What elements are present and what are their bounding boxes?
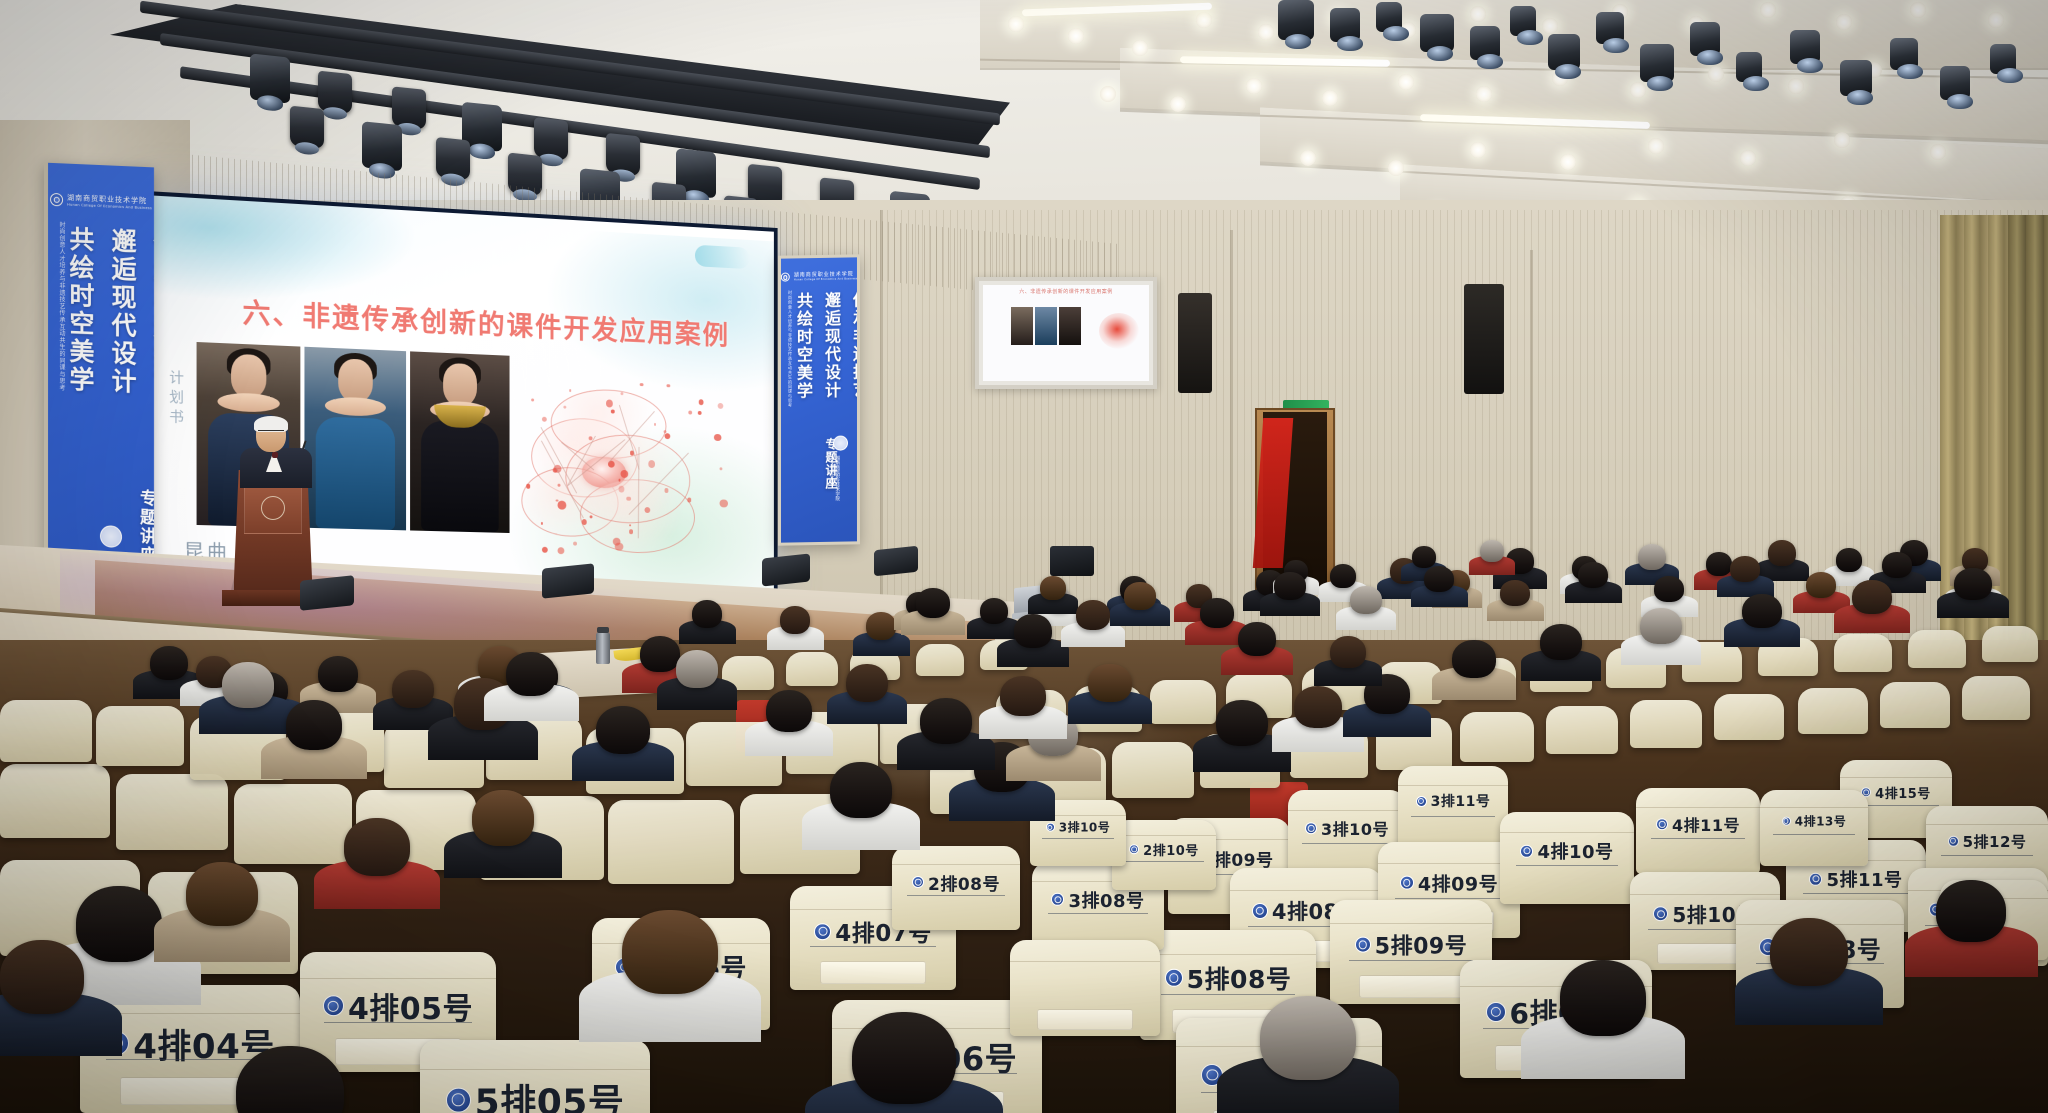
- flower-dot: [664, 433, 670, 439]
- audience-person-head: [1852, 580, 1892, 614]
- flower-dot: [573, 542, 577, 546]
- audience-person-head: [1200, 598, 1234, 628]
- audience-seat[interactable]: [1460, 712, 1534, 762]
- seat-number-label: 4排09号: [1378, 869, 1520, 896]
- audience-person-head: [1412, 546, 1436, 568]
- seat-seam: [420, 1069, 650, 1070]
- audience-person-head: [506, 652, 556, 696]
- audience-person-head: [0, 940, 84, 1014]
- moving-head-light: [250, 53, 290, 103]
- seat-label-underline: [1042, 838, 1115, 839]
- stage-spotlight: [1690, 22, 1720, 56]
- audience-person-head: [1638, 544, 1666, 570]
- flower-dot: [627, 496, 631, 500]
- seat-label-underline: [1411, 816, 1495, 817]
- audience-person-head: [622, 910, 718, 994]
- seat-number-label: 4排10号: [1500, 838, 1634, 864]
- seat-logo-badge-icon: [1948, 835, 1959, 846]
- seat-number-label: 3排10号: [1288, 816, 1406, 840]
- seat-number-label: 2排10号: [1112, 840, 1216, 859]
- audience-person-head: [1730, 556, 1760, 582]
- audience-person-head: [1260, 996, 1356, 1080]
- flower-dot: [718, 403, 724, 409]
- audience-person-head: [150, 646, 188, 680]
- seat-number-text: 3排10号: [1059, 819, 1111, 836]
- ceiling-downlight: [1008, 16, 1024, 32]
- audience-person-head: [1076, 600, 1110, 630]
- ceiling-downlight: [1476, 86, 1492, 102]
- seat-seam: [892, 864, 1020, 865]
- stage-spotlight: [1596, 12, 1624, 44]
- seat-seam: [300, 978, 496, 979]
- wall-display-title: 六、非遗传承创新的课件开发应用案例: [983, 288, 1149, 295]
- audience-person-head: [1088, 664, 1132, 702]
- seat-logo-badge-icon: [1520, 845, 1533, 858]
- seat-number-text: 3排08号: [1068, 887, 1144, 913]
- ceiling-downlight: [1930, 144, 1946, 160]
- flower-dot: [581, 519, 586, 525]
- audience-person-head: [1836, 548, 1862, 572]
- seat-seam: [1500, 832, 1634, 833]
- wall-display-photo: [1035, 307, 1057, 345]
- flower-dot: [541, 416, 546, 421]
- seat-number-text: 5排09号: [1375, 929, 1467, 961]
- seat-number-text: 4排10号: [1537, 838, 1613, 864]
- banner-fine-print: 时尚创意人才培养与非遗技艺传承互动共生的同课与思考: [57, 221, 66, 521]
- seat-logo-badge-icon: [1355, 937, 1371, 953]
- stage-spotlight: [1890, 38, 1918, 70]
- stage-side-monitor: [1050, 546, 1094, 576]
- banner-university-name: 湖南商贸职业技术学院 Hunan College Of Economics An…: [67, 194, 152, 211]
- banner-foot-seal-icon: [100, 525, 122, 548]
- seat-number-text: 4排13号: [1795, 812, 1847, 829]
- audience-person-head: [1330, 564, 1356, 588]
- flower-dot: [687, 498, 691, 503]
- flower-dot: [688, 411, 692, 415]
- seat-logo-badge-icon: [1782, 816, 1791, 825]
- banner-line-1: 传承非遗技艺: [847, 291, 860, 431]
- seat-logo-badge-icon: [1046, 823, 1055, 832]
- seat-number-label: 5排11号: [1786, 866, 1926, 892]
- audience-person-head: [780, 606, 810, 634]
- seat-logo-badge-icon: [323, 995, 344, 1016]
- seat-number-label: 3排10号: [1030, 819, 1126, 836]
- photo-head: [443, 363, 477, 406]
- audience-person-head: [640, 636, 680, 672]
- audience-person-head: [392, 670, 434, 708]
- audience-person-head: [1000, 676, 1046, 716]
- flower-dot: [526, 484, 531, 489]
- seat-seam: [1840, 777, 1952, 778]
- stage-spotlight: [1420, 14, 1454, 52]
- audience-person-head: [1500, 580, 1530, 606]
- presenter: [240, 418, 312, 482]
- audience-seat[interactable]: [234, 784, 352, 864]
- audience-seat[interactable]: [1010, 940, 1160, 1036]
- wall-speaker: [1178, 293, 1212, 393]
- flower-dot: [699, 399, 704, 405]
- seat-logo-badge-icon: [1656, 818, 1668, 830]
- ceiling-downlight: [1322, 90, 1338, 106]
- audience-seat[interactable]: [786, 652, 838, 686]
- stage-spotlight: [1990, 44, 2016, 74]
- seat-seam: [1010, 961, 1160, 962]
- audience-person-head: [596, 706, 650, 754]
- flower-dot: [697, 411, 701, 416]
- ceiling-downlight: [1542, 18, 1558, 34]
- audience-seat[interactable]: [1112, 742, 1194, 798]
- audience-person-head: [344, 818, 410, 876]
- audience-person-head: [1014, 614, 1052, 648]
- par-can-light: [436, 137, 470, 181]
- seat-label-underline: [1302, 843, 1392, 844]
- ceiling-downlight: [1246, 78, 1262, 94]
- podium-seal-icon: [261, 496, 285, 520]
- audience-person-head: [1560, 960, 1646, 1036]
- audience-person-head: [1216, 700, 1268, 746]
- ceiling-downlight: [1560, 154, 1576, 170]
- flower-dot: [649, 460, 656, 467]
- banner-line-1: 传承非遗技艺: [146, 229, 154, 481]
- seat-label-underline: [324, 1022, 473, 1023]
- seat-logo-badge-icon: [1416, 796, 1427, 807]
- stage-spotlight: [1330, 8, 1360, 42]
- auditorium-photo: 六、非遗传承创新的课件开发应用案例: [0, 0, 2048, 1113]
- flower-dot: [618, 486, 624, 492]
- ceiling-downlight: [1068, 28, 1084, 44]
- par-can-light: [290, 106, 324, 150]
- seat-seam: [1398, 785, 1508, 786]
- seat-label-underline: [1349, 960, 1472, 961]
- audience-person-head: [1238, 622, 1276, 656]
- audience-person-head: [1330, 636, 1366, 668]
- banner-university-name: 湖南商贸职业技术学院 Hunan College Of Economics An…: [794, 271, 857, 282]
- seat-label-underline: [1395, 898, 1503, 899]
- seat-number-text: 4排09号: [1418, 869, 1498, 896]
- moving-head-light: [362, 121, 402, 171]
- seat-number-text: 5排08号: [1187, 960, 1292, 996]
- audience-person-head: [1954, 568, 1992, 600]
- presenter-bowtie: [272, 452, 278, 458]
- audience-person-head: [692, 600, 722, 628]
- audience-seat[interactable]: [0, 700, 92, 762]
- audience-seat[interactable]: [1982, 626, 2038, 662]
- slide-photo: [410, 351, 509, 533]
- audience-seat[interactable]: [0, 764, 110, 838]
- audience-seat[interactable]: [1546, 706, 1618, 754]
- seat-seam: [1760, 807, 1868, 808]
- flower-dot: [720, 499, 728, 508]
- embroidery-flower-illustration: [521, 376, 732, 570]
- seat-number-label: 4排13号: [1760, 812, 1868, 829]
- seat-number-label: 5排08号: [1140, 960, 1316, 996]
- flower-dot: [714, 434, 721, 441]
- flower-dot: [557, 547, 564, 554]
- seat-logo-badge-icon: [1305, 822, 1317, 834]
- seat-number-text: 3排10号: [1321, 816, 1389, 840]
- audience-person-head: [1742, 594, 1782, 628]
- audience-person-head: [1350, 586, 1382, 614]
- ceiling-downlight: [1648, 138, 1664, 154]
- flower-dot: [667, 384, 670, 387]
- audience-person-head: [676, 650, 718, 688]
- seat-label-underline: [1941, 855, 2034, 856]
- seat-seam: [1636, 807, 1760, 808]
- seat-pocket: [820, 961, 926, 984]
- audience-seat[interactable]: 3排11号: [1398, 766, 1508, 852]
- ceiling-downlight: [1300, 150, 1316, 166]
- flower-dot: [640, 383, 644, 387]
- ceiling-downlight: [1470, 142, 1486, 158]
- university-seal-icon: [781, 273, 790, 282]
- seat-logo-badge-icon: [446, 1087, 471, 1112]
- slide-photo: [304, 347, 406, 531]
- seat-label-underline: [907, 895, 1004, 896]
- seat-logo-badge-icon: [814, 923, 831, 940]
- glasses-icon: [258, 430, 284, 436]
- stage-spotlight: [1736, 52, 1762, 82]
- flower-dot: [619, 479, 621, 481]
- photo-head: [338, 358, 373, 402]
- seat-number-text: 5排11号: [1826, 866, 1902, 892]
- audience-seat[interactable]: [916, 644, 964, 676]
- audience-person-head: [76, 886, 162, 962]
- banner-line-2: 邂逅现代设计: [104, 227, 140, 479]
- flower-dot: [558, 500, 567, 509]
- seat-logo-badge-icon: [1129, 844, 1139, 854]
- seat-number-label: 4排11号: [1636, 812, 1760, 836]
- audience-person-head: [1294, 686, 1342, 728]
- photo-shoulders: [325, 396, 386, 417]
- audience-person-head: [1452, 640, 1496, 678]
- audience-person-head: [1578, 562, 1608, 588]
- seat-number-label: 3排08号: [1032, 887, 1164, 913]
- seat-seam: [1330, 923, 1492, 924]
- seat-label-underline: [1124, 861, 1203, 862]
- flower-dot: [664, 488, 668, 492]
- wall-seam: [1230, 230, 1233, 650]
- audience-person-head: [1706, 552, 1732, 576]
- audience-seat[interactable]: 5排05号: [420, 1040, 650, 1113]
- seat-logo-badge-icon: [1051, 893, 1064, 906]
- audience-person-head: [1936, 880, 2006, 942]
- par-can-light: [534, 117, 568, 161]
- seat-label-underline: [1803, 893, 1909, 894]
- audience-seat[interactable]: 4排13号: [1760, 790, 1868, 866]
- audience-seat[interactable]: [1714, 694, 1784, 740]
- audience-seat[interactable]: [1908, 630, 1966, 668]
- audience-person-head: [920, 698, 972, 744]
- banner-line-2: 邂逅现代设计: [819, 292, 843, 432]
- wall-display-photo: [1011, 307, 1033, 345]
- audience-seat[interactable]: [1962, 676, 2030, 720]
- audience-seat[interactable]: 4排11号: [1636, 788, 1760, 874]
- slide-side-text: 计划书: [165, 369, 186, 429]
- ceiling-downlight: [1100, 86, 1116, 102]
- flower-dot: [542, 547, 548, 553]
- audience-person-head: [1480, 540, 1504, 562]
- stage-spotlight: [1278, 0, 1314, 40]
- audience-seat[interactable]: [116, 774, 228, 850]
- flower-dot: [719, 467, 722, 470]
- photo-head: [231, 354, 266, 398]
- seat-number-label: 5排12号: [1926, 830, 2048, 851]
- university-seal-icon: [50, 193, 63, 207]
- audience-seat[interactable]: [1834, 634, 1892, 672]
- audience-person-head: [980, 598, 1008, 624]
- par-can-light: [606, 133, 640, 177]
- stage-spotlight: [1376, 2, 1402, 32]
- seat-logo-badge-icon: [1809, 873, 1822, 886]
- audience-seat[interactable]: [96, 706, 184, 766]
- banner-foot-seal-icon: [833, 435, 848, 450]
- stage-spotlight: [1510, 6, 1536, 36]
- audience-person-head: [472, 790, 534, 846]
- audience-person-head: [866, 612, 896, 640]
- floor-monitor: [762, 553, 810, 586]
- seat-logo-badge-icon: [1252, 903, 1268, 919]
- wall-mounted-display: 六、非遗传承创新的课件开发应用案例: [975, 277, 1157, 389]
- seat-seam: [1378, 863, 1520, 864]
- audience-person-head: [830, 762, 892, 818]
- seat-logo-badge-icon: [912, 876, 924, 888]
- seat-seam: [1112, 835, 1216, 836]
- stage-spotlight: [1790, 30, 1820, 64]
- audience-seat[interactable]: 4排10号: [1500, 812, 1634, 904]
- stage-spotlight: [1548, 34, 1580, 70]
- audience-seat[interactable]: 2排08号: [892, 846, 1020, 930]
- seat-label-underline: [1048, 913, 1148, 914]
- photo-garment: [316, 416, 395, 530]
- seat-number-label: 5排05号: [420, 1074, 650, 1113]
- ceiling-downlight: [1170, 96, 1186, 112]
- seat-number-text: 2排08号: [928, 870, 1000, 895]
- seat-number-text: 2排10号: [1143, 840, 1199, 859]
- audience-seat[interactable]: [1630, 700, 1702, 748]
- audience-seat[interactable]: 2排10号: [1112, 820, 1216, 890]
- banner-right: 湖南商贸职业技术学院 Hunan College Of Economics An…: [778, 254, 860, 545]
- seat-label-underline: [1773, 834, 1855, 835]
- audience-person-head: [1040, 576, 1066, 600]
- ceiling-downlight: [1196, 12, 1212, 28]
- stage-spotlight: [1840, 60, 1872, 96]
- floor-monitor: [300, 575, 354, 611]
- audience-person-head: [318, 656, 358, 692]
- flower-dot: [541, 522, 543, 524]
- audience-person-head: [916, 588, 950, 618]
- seat-seam: [1140, 954, 1316, 955]
- flower-dot: [611, 410, 615, 414]
- seat-number-label: 3排11号: [1398, 791, 1508, 811]
- flower-dot: [563, 405, 566, 408]
- audience-person-head: [1424, 566, 1454, 592]
- slide-corner-logo: [695, 245, 750, 269]
- par-can-light: [392, 86, 426, 130]
- seat-label-underline: [810, 946, 936, 947]
- seat-seam: [1630, 894, 1780, 895]
- floor-monitor: [874, 546, 918, 577]
- banner-fine-print: 时尚创意人才培养与非遗技艺传承互动共生的同课与思考: [787, 290, 793, 490]
- flower-dot: [620, 392, 623, 396]
- banner-organizer: 湖南商贸职业技术学院 人文艺术学院: [829, 456, 840, 502]
- audience-person-head: [1640, 608, 1682, 644]
- flower-dot: [556, 499, 559, 502]
- seat-seam: [1926, 824, 2048, 825]
- stage-spotlight: [1940, 66, 1970, 100]
- ceiling-downlight: [1398, 74, 1414, 90]
- audience-person-head: [1768, 540, 1796, 566]
- audience-seat[interactable]: [608, 800, 734, 884]
- wall-display-photo: [1059, 307, 1081, 345]
- seat-logo-badge-icon: [1400, 876, 1414, 890]
- audience-person-head: [1770, 918, 1848, 986]
- audience-person-head: [846, 664, 888, 702]
- photo-garment: [421, 420, 499, 533]
- audience-person-head: [1654, 576, 1684, 602]
- audience-person-head: [186, 862, 258, 926]
- audience-person-head: [766, 690, 812, 732]
- wall-speaker: [1464, 284, 1504, 394]
- seat-number-label: 5排09号: [1330, 929, 1492, 961]
- audience-seat[interactable]: [1880, 682, 1950, 728]
- seat-number-text: 5排05号: [475, 1074, 625, 1113]
- seat-label-underline: [1516, 865, 1618, 866]
- par-can-light: [318, 71, 352, 115]
- stage-spotlight: [1470, 26, 1500, 60]
- flower-dot: [531, 398, 534, 402]
- flower-dot: [654, 423, 656, 426]
- seat-number-text: 5排12号: [1963, 830, 2027, 851]
- seat-label-underline: [1651, 838, 1745, 839]
- ceiling-downlight: [1388, 160, 1404, 176]
- podium-front-panel: [244, 482, 302, 534]
- thermos-flask: [596, 632, 610, 664]
- banner-line-3: 共绘时空美学: [62, 225, 98, 477]
- wall-display-content: 六、非遗传承创新的课件开发应用案例: [983, 285, 1149, 381]
- ceiling-downlight: [1470, 6, 1486, 22]
- seat-label-underline: [1161, 994, 1295, 995]
- stage-spotlight: [1640, 44, 1674, 82]
- floor-monitor: [542, 563, 594, 598]
- seat-logo-badge-icon: [1486, 1002, 1506, 1022]
- audience-person-head: [1274, 572, 1306, 600]
- seat-number-label: 2排08号: [892, 870, 1020, 895]
- audience-person-head: [1124, 582, 1156, 610]
- audience-person-head: [286, 700, 342, 750]
- flower-dot: [569, 389, 571, 391]
- ceiling-downlight: [1740, 150, 1756, 166]
- ceiling-downlight: [1258, 24, 1274, 40]
- seat-seam: [1230, 890, 1382, 891]
- audience-person-head: [852, 1012, 956, 1104]
- seat-seam: [1288, 810, 1406, 811]
- seat-pocket: [1037, 1009, 1133, 1030]
- photo-shoulders: [217, 392, 279, 413]
- seat-pocket: [1359, 975, 1463, 998]
- audience-seat[interactable]: [1798, 688, 1868, 734]
- audience-seat[interactable]: [1150, 680, 1216, 724]
- seat-logo-badge-icon: [1165, 969, 1183, 987]
- audience-person-head: [1540, 624, 1582, 660]
- audience-person-head: [222, 662, 274, 708]
- seat-number-text: 4排15号: [1875, 783, 1931, 802]
- seat-logo-badge-icon: [1653, 907, 1668, 922]
- seat-number-text: 3排11号: [1431, 791, 1491, 811]
- wall-display-flower: [1099, 313, 1139, 349]
- seat-number-text: 4排11号: [1672, 812, 1740, 836]
- banner-line-3: 共绘时空美学: [791, 292, 815, 432]
- audience-person-head: [1882, 552, 1912, 578]
